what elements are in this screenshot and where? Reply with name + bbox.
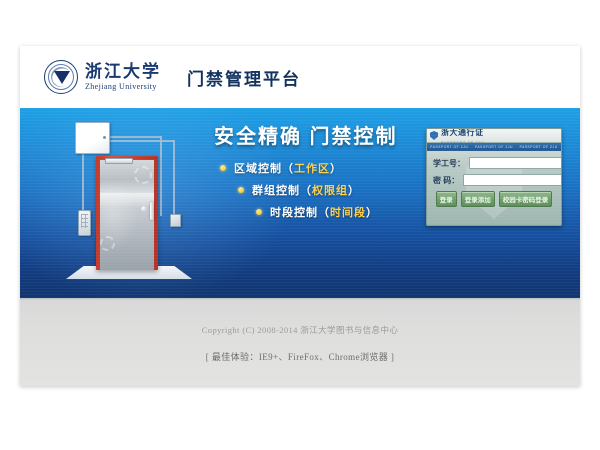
- university-name-cn: 浙江大学: [85, 63, 161, 80]
- card-reader-icon: [170, 214, 181, 227]
- university-name-en: Zhejiang University: [85, 83, 161, 91]
- login-button-row: 登录 登录添加 校园卡密码登录: [433, 191, 555, 207]
- login-panel-strip: PASSPORT OF ZJU PASSPORT OF ZJU PASSPORT…: [427, 143, 561, 151]
- feature-item-area-control: 区域控制（ 工作区 ）: [220, 160, 378, 176]
- zju-seal-icon: [44, 60, 78, 94]
- wire-segment: [108, 136, 161, 138]
- app-page: 浙江大学 Zhejiang University 门禁管理平台: [20, 46, 580, 386]
- password-input[interactable]: [463, 174, 562, 186]
- feature-text: 时段控制（: [270, 204, 330, 220]
- access-controller-icon: [75, 122, 110, 154]
- form-row-userid: 学工号：: [433, 157, 555, 169]
- gear-decoration-icon: [134, 166, 152, 184]
- feature-highlight: 工作区: [294, 160, 330, 176]
- feature-item-group-control: 群组控制（ 权限组 ）: [238, 182, 378, 198]
- bullet-icon: [220, 165, 226, 171]
- site-header: 浙江大学 Zhejiang University 门禁管理平台: [20, 46, 580, 108]
- feature-text: 群组控制（: [252, 182, 312, 198]
- login-panel-title-cn: 浙大通行证: [441, 128, 484, 138]
- access-control-illustration: [58, 114, 198, 294]
- form-row-password: 密 码：: [433, 174, 555, 186]
- wire-segment: [110, 140, 174, 142]
- strip-text: PASSPORT OF ZJU: [430, 145, 468, 149]
- bullet-icon: [238, 187, 244, 193]
- login-panel-title-block: 浙大通行证 PASSPORT OF ZJU: [441, 128, 484, 145]
- seal-arc-decoration: [47, 63, 74, 90]
- login-panel: 浙大通行证 PASSPORT OF ZJU PASSPORT OF ZJU PA…: [426, 128, 562, 226]
- university-name-block: 浙江大学 Zhejiang University: [85, 63, 161, 91]
- campus-card-login-button[interactable]: 校园卡密码登录: [499, 191, 553, 207]
- login-panel-header: 浙大通行证 PASSPORT OF ZJU: [427, 129, 561, 143]
- footer-divider: [20, 298, 580, 300]
- feature-tail: ）: [366, 204, 378, 220]
- banner-headline: 安全精确 门禁控制: [214, 120, 398, 149]
- wire-segment: [160, 136, 162, 216]
- browser-compatibility-note: [ 最佳体验：IE9+、FireFox、Chrome浏览器 ]: [206, 350, 394, 363]
- login-panel-title-en: PASSPORT OF ZJU: [441, 141, 484, 145]
- wire-segment: [82, 154, 84, 211]
- site-footer: Copyright (C) 2008-2014 浙江大学图书与信息中心 [ 最佳…: [20, 298, 580, 386]
- login-add-button[interactable]: 登录添加: [461, 191, 495, 207]
- feature-tail: ）: [348, 182, 360, 198]
- gear-decoration-icon: [100, 236, 115, 251]
- keypad-reader-icon: [78, 210, 91, 236]
- university-logo[interactable]: 浙江大学 Zhejiang University: [44, 60, 161, 94]
- strip-text: PASSPORT OF ZJU: [475, 145, 513, 149]
- door-knob-icon: [141, 206, 147, 212]
- feature-item-time-control: 时段控制（ 时间段 ）: [256, 204, 378, 220]
- strip-text: PASSPORT OF ZJU: [520, 145, 558, 149]
- feature-highlight: 权限组: [312, 182, 348, 198]
- feature-highlight: 时间段: [330, 204, 366, 220]
- door-handle-icon: [150, 202, 154, 220]
- door-closer-icon: [105, 158, 133, 164]
- userid-input[interactable]: [469, 157, 562, 169]
- copyright-text: Copyright (C) 2008-2014 浙江大学图书与信息中心: [202, 324, 399, 336]
- bullet-icon: [256, 209, 262, 215]
- userid-label: 学工号：: [433, 158, 465, 169]
- login-button[interactable]: 登录: [436, 191, 457, 207]
- page-title: 门禁管理平台: [187, 65, 301, 90]
- login-form: 学工号： 密 码： 登录 登录添加 校园卡密码登录: [427, 151, 561, 207]
- password-label: 密 码：: [433, 175, 459, 186]
- shield-icon: [430, 131, 438, 140]
- wire-segment: [173, 140, 175, 215]
- feature-text: 区域控制（: [234, 160, 294, 176]
- hero-banner: 安全精确 门禁控制 区域控制（ 工作区 ） 群组控制（ 权限组 ） 时段控制（ …: [20, 108, 580, 298]
- feature-tail: ）: [330, 160, 342, 176]
- feature-list: 区域控制（ 工作区 ） 群组控制（ 权限组 ） 时段控制（ 时间段 ）: [220, 160, 378, 226]
